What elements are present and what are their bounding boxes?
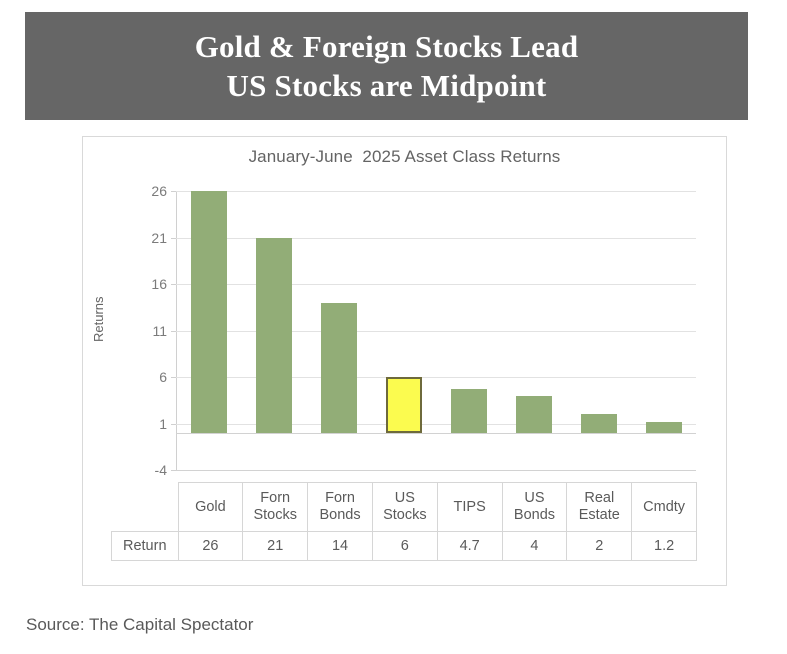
title-banner: Gold & Foreign Stocks Lead US Stocks are… xyxy=(25,12,748,120)
bar-gold xyxy=(191,191,227,433)
y-tick-label: 16 xyxy=(151,276,167,292)
bar-forn-bonds xyxy=(321,303,357,433)
y-tick-label: 11 xyxy=(152,323,167,339)
plot-area: 2621161161-4 xyxy=(176,191,696,470)
y-tick-label: 6 xyxy=(159,369,167,385)
y-tick-label: -4 xyxy=(155,462,167,478)
table-row-categories: GoldFornStocksFornBondsUSStocksTIPSUSBon… xyxy=(112,483,697,532)
bar-forn-stocks xyxy=(256,238,292,433)
chart-panel: January-June 2025 Asset Class Returns Re… xyxy=(82,136,727,586)
table-row-label: Return xyxy=(112,532,179,561)
table-header-text: Gold xyxy=(179,499,243,516)
y-tick-label: 21 xyxy=(151,230,167,246)
chart-title: January-June 2025 Asset Class Returns xyxy=(83,147,726,167)
table-header-text: Bonds xyxy=(308,507,372,524)
gridline xyxy=(176,470,696,471)
source-note: Source: The Capital Spectator xyxy=(26,615,253,635)
table-header-text: Forn xyxy=(243,490,307,507)
table-header-text: Bonds xyxy=(503,507,567,524)
table-value-cell: 4 xyxy=(502,532,567,561)
table-value-cell: 6 xyxy=(372,532,437,561)
y-tick-mark xyxy=(171,470,176,471)
table-row-returns: Return26211464.7421.2 xyxy=(112,532,697,561)
bar-series xyxy=(176,191,696,470)
table-value-cell: 26 xyxy=(178,532,243,561)
y-axis-title: Returns xyxy=(91,296,106,342)
bar-cmdty xyxy=(646,422,682,433)
table-value-cell: 4.7 xyxy=(437,532,502,561)
table-header-text: Real xyxy=(567,490,631,507)
table-value-cell: 2 xyxy=(567,532,632,561)
bar-real-estate xyxy=(581,414,617,433)
table-header-cell: FornStocks xyxy=(243,483,308,532)
table-header-cell: USStocks xyxy=(372,483,437,532)
table-header-text: US xyxy=(373,490,437,507)
bar-us-stocks xyxy=(386,377,422,433)
data-table: GoldFornStocksFornBondsUSStocksTIPSUSBon… xyxy=(111,482,697,561)
table-header-text: Cmdty xyxy=(632,499,696,516)
table-header-cell: Gold xyxy=(178,483,243,532)
table-value-cell: 1.2 xyxy=(632,532,697,561)
table-header-text: US xyxy=(503,490,567,507)
table-header-cell: TIPS xyxy=(437,483,502,532)
table-header-cell: RealEstate xyxy=(567,483,632,532)
table-header-text: Stocks xyxy=(243,507,307,524)
bar-tips xyxy=(451,389,487,433)
table-value-cell: 21 xyxy=(243,532,308,561)
table-header-text: Forn xyxy=(308,490,372,507)
table-header-text: Stocks xyxy=(373,507,437,524)
bar-us-bonds xyxy=(516,396,552,433)
table-corner-cell xyxy=(112,483,179,532)
y-tick-label: 26 xyxy=(151,183,167,199)
table-value-cell: 14 xyxy=(308,532,373,561)
y-tick-label: 1 xyxy=(159,416,167,432)
banner-line-2: US Stocks are Midpoint xyxy=(227,66,547,105)
table-header-cell: USBonds xyxy=(502,483,567,532)
table-header-cell: Cmdty xyxy=(632,483,697,532)
table-header-text: TIPS xyxy=(438,499,502,516)
table-header-cell: FornBonds xyxy=(308,483,373,532)
banner-line-1: Gold & Foreign Stocks Lead xyxy=(195,27,579,66)
table-header-text: Estate xyxy=(567,507,631,524)
